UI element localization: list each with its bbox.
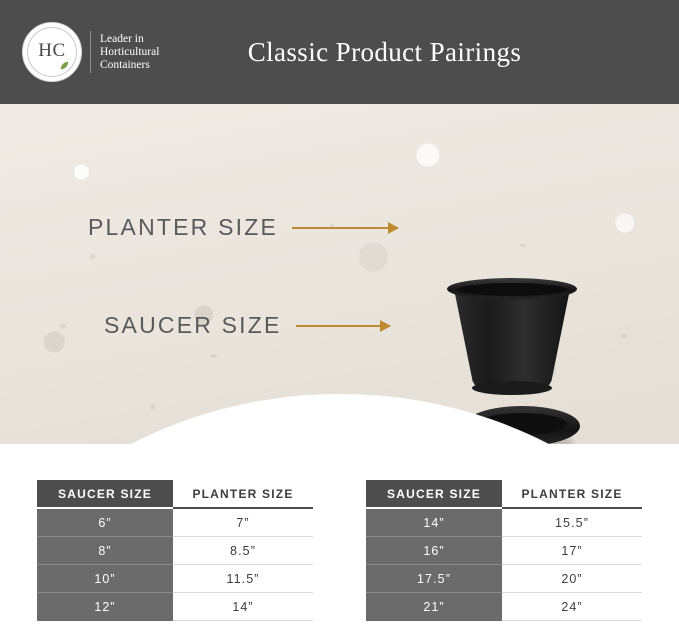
planter-size-callout: PLANTER SIZE	[88, 214, 398, 241]
logo-tagline: Leader in Horticultural Containers	[90, 31, 159, 73]
size-tables-section: SAUCER SIZE PLANTER SIZE 6” 7” 8” 8.5” 1…	[0, 444, 679, 636]
planter-size-label: PLANTER SIZE	[88, 214, 278, 241]
size-table-large: SAUCER SIZE PLANTER SIZE 14” 15.5” 16” 1…	[366, 480, 642, 621]
table-row: 6” 7”	[37, 508, 313, 537]
cell-planter-size: 7”	[173, 508, 313, 537]
cell-planter-size: 11.5”	[173, 565, 313, 593]
column-header-planter-size: PLANTER SIZE	[502, 480, 642, 508]
table-row: 17.5” 20”	[366, 565, 642, 593]
texture-speck	[60, 324, 66, 328]
cell-saucer-size: 16”	[366, 537, 502, 565]
logo-circle-icon: HC	[22, 22, 82, 82]
cell-saucer-size: 14”	[366, 508, 502, 537]
cell-saucer-size: 8”	[37, 537, 173, 565]
planter-illustration	[447, 278, 577, 390]
saucer-size-callout: SAUCER SIZE	[104, 312, 390, 339]
texture-speck	[210, 354, 217, 358]
hero-background-texture	[0, 104, 679, 444]
pairing-table: SAUCER SIZE PLANTER SIZE 6” 7” 8” 8.5” 1…	[37, 480, 313, 621]
brand-logo: HC Leader in Horticultural Containers	[22, 22, 159, 82]
leaf-icon	[60, 61, 69, 70]
cell-saucer-size: 21”	[366, 593, 502, 621]
texture-speck	[150, 404, 155, 410]
saucer-size-label: SAUCER SIZE	[104, 312, 282, 339]
page-header: HC Leader in Horticultural Containers Cl…	[0, 0, 679, 104]
cell-saucer-size: 12”	[37, 593, 173, 621]
column-header-planter-size: PLANTER SIZE	[173, 480, 313, 508]
table-row: 8” 8.5”	[37, 537, 313, 565]
planter-body	[454, 289, 570, 389]
texture-speck	[620, 334, 628, 338]
logo-tagline-line1: Leader in	[100, 33, 159, 46]
logo-tagline-line3: Containers	[100, 59, 159, 72]
arrow-right-icon	[296, 325, 390, 327]
column-header-saucer-size: SAUCER SIZE	[366, 480, 502, 508]
table-header-row: SAUCER SIZE PLANTER SIZE	[366, 480, 642, 508]
cell-planter-size: 8.5”	[173, 537, 313, 565]
cell-planter-size: 15.5”	[502, 508, 642, 537]
logo-tagline-line2: Horticultural	[100, 46, 159, 59]
logo-monogram: HC	[38, 40, 65, 62]
hero-section: PLANTER SIZE SAUCER SIZE	[0, 104, 679, 444]
table-row: 14” 15.5”	[366, 508, 642, 537]
table-row: 12” 14”	[37, 593, 313, 621]
cell-saucer-size: 17.5”	[366, 565, 502, 593]
size-table-small: SAUCER SIZE PLANTER SIZE 6” 7” 8” 8.5” 1…	[37, 480, 313, 621]
table-row: 10” 11.5”	[37, 565, 313, 593]
cell-planter-size: 17”	[502, 537, 642, 565]
texture-speck	[90, 254, 95, 259]
planter-rim-inner	[457, 283, 567, 296]
cell-planter-size: 24”	[502, 593, 642, 621]
cell-planter-size: 20”	[502, 565, 642, 593]
table-row: 16” 17”	[366, 537, 642, 565]
planter-base	[472, 381, 552, 395]
cell-saucer-size: 10”	[37, 565, 173, 593]
table-row: 21” 24”	[366, 593, 642, 621]
column-header-saucer-size: SAUCER SIZE	[37, 480, 173, 508]
texture-speck	[520, 244, 526, 247]
table-header-row: SAUCER SIZE PLANTER SIZE	[37, 480, 313, 508]
arrow-right-icon	[292, 227, 398, 229]
cell-planter-size: 14”	[173, 593, 313, 621]
pairing-table: SAUCER SIZE PLANTER SIZE 14” 15.5” 16” 1…	[366, 480, 642, 621]
cell-saucer-size: 6”	[37, 508, 173, 537]
